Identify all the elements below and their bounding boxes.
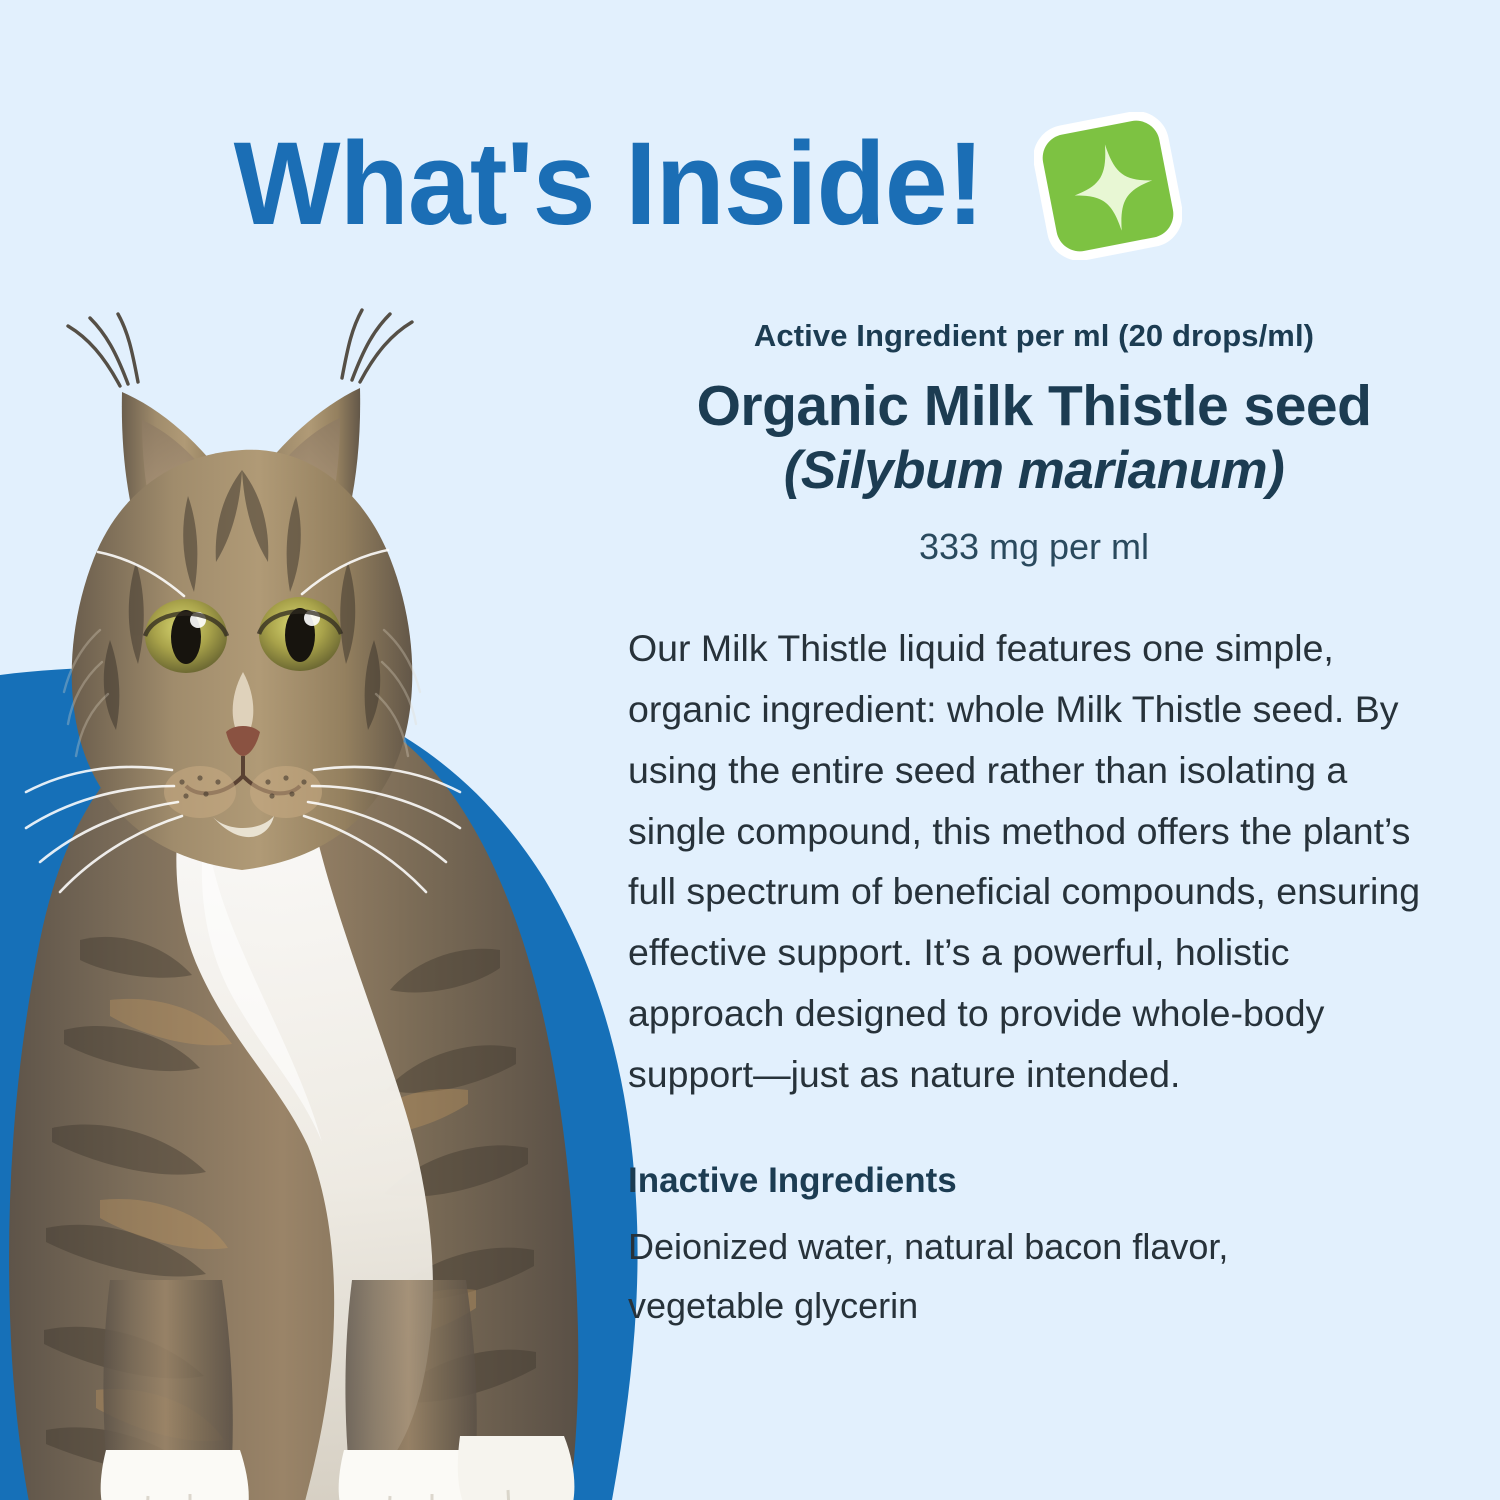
ingredient-name: Organic Milk Thistle seed	[628, 375, 1440, 439]
product-infographic: What's Inside!	[0, 0, 1500, 1500]
dosage-amount: 333 mg per ml	[628, 527, 1440, 567]
header: What's Inside!	[0, 110, 1400, 258]
cat-illustration	[0, 300, 620, 1500]
page-title: What's Inside!	[234, 125, 984, 243]
ingredient-panel: Active Ingredient per ml (20 drops/ml) O…	[628, 318, 1440, 1335]
ingredient-latin-name: (Silybum marianum)	[628, 442, 1440, 500]
active-ingredient-label: Active Ingredient per ml (20 drops/ml)	[628, 318, 1440, 354]
inactive-ingredients-list: Deionized water, natural bacon flavor, v…	[628, 1218, 1308, 1335]
inactive-ingredients-heading: Inactive Ingredients	[628, 1160, 1440, 1202]
description-paragraph: Our Milk Thistle liquid features one sim…	[628, 618, 1440, 1104]
sparkle-icon	[1034, 112, 1182, 260]
cat-photo	[0, 300, 620, 1500]
